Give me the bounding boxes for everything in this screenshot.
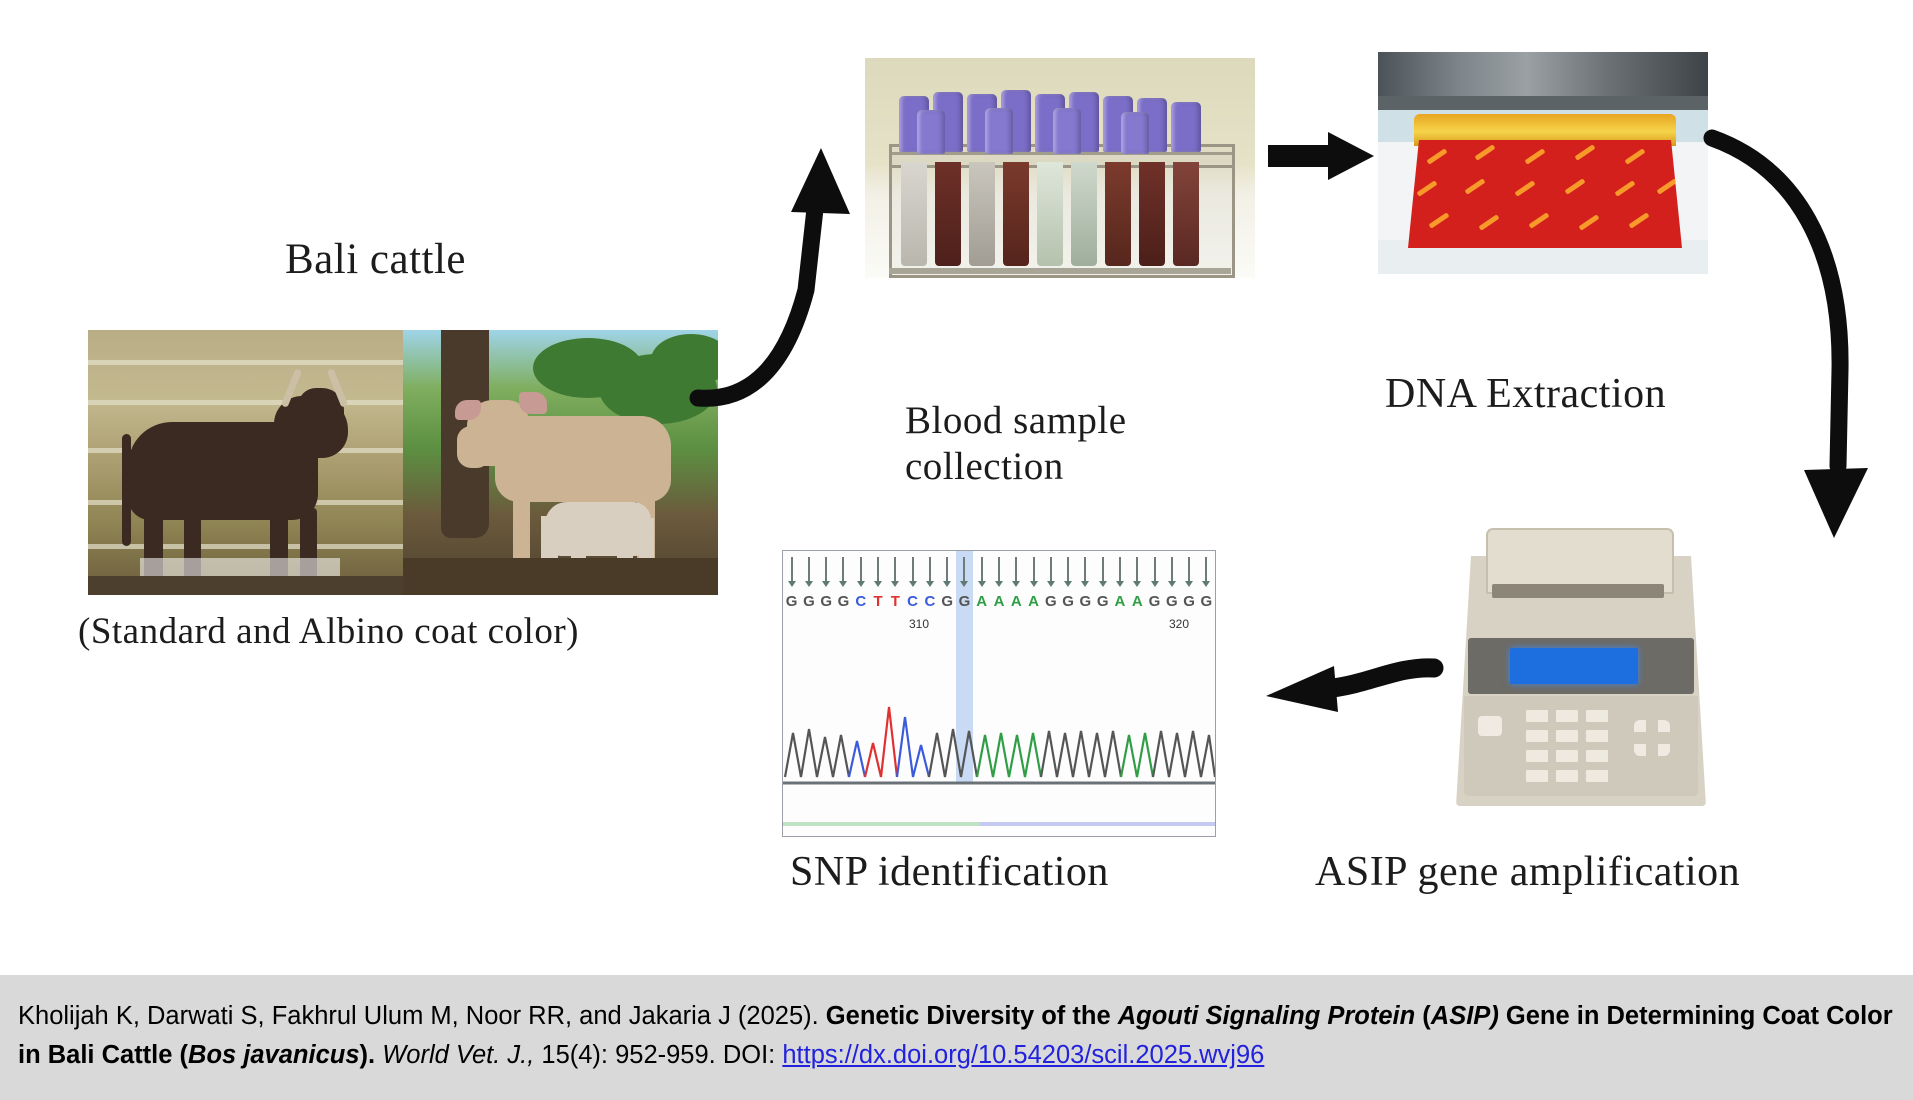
- base-tick-arrowhead: [1133, 581, 1141, 587]
- keypad-button[interactable]: [1586, 750, 1608, 762]
- base-tick-arrowhead: [960, 581, 968, 587]
- base-tick-arrowhead: [1185, 581, 1193, 587]
- base-tick-arrowhead: [1064, 581, 1072, 587]
- base-call-a: A: [1008, 593, 1024, 610]
- caption-title-italic2: ASIP): [1431, 1002, 1499, 1030]
- base-call-g: G: [801, 593, 817, 610]
- base-tick-arrowhead: [891, 581, 899, 587]
- base-call-g: G: [939, 593, 955, 610]
- base-tick-arrowhead: [839, 581, 847, 587]
- dna-kit-box: [1408, 140, 1682, 248]
- caption-journal: World Vet. J.,: [382, 1041, 534, 1069]
- base-tick: [825, 557, 827, 583]
- base-tick-arrowhead: [874, 581, 882, 587]
- keypad-button[interactable]: [1586, 770, 1608, 782]
- pcr-thermocycler-photo: [1448, 520, 1716, 820]
- citation-caption: Kholijah K, Darwati S, Fakhrul Ulum M, N…: [0, 975, 1913, 1100]
- base-tick-arrowhead: [1099, 581, 1107, 587]
- keypad-button[interactable]: [1556, 710, 1578, 722]
- base-tick: [963, 557, 965, 583]
- base-tick: [1171, 557, 1173, 583]
- base-call-t: T: [887, 593, 903, 610]
- base-call-a: A: [974, 593, 990, 610]
- dna-extraction-label: DNA Extraction: [1385, 370, 1666, 420]
- arrow-dna-to-pcr: [1700, 130, 1900, 550]
- base-tick-arrowhead: [788, 581, 796, 587]
- standard-coat-cattle-image: [88, 330, 403, 595]
- asip-gene-amplification-label: ASIP gene amplification: [1315, 848, 1740, 898]
- base-tick: [808, 557, 810, 583]
- base-tick-arrowhead: [1116, 581, 1124, 587]
- base-call-g: G: [1043, 593, 1059, 610]
- base-tick: [1205, 557, 1207, 583]
- base-tick: [860, 557, 862, 583]
- base-tick: [1050, 557, 1052, 583]
- base-call-c: C: [853, 593, 869, 610]
- base-call-g: G: [1164, 593, 1180, 610]
- keypad-button[interactable]: [1556, 730, 1578, 742]
- blood-sample-collection-label: Blood sample collection: [905, 398, 1127, 490]
- sanger-chromatogram-photo: GGGGCTTCCGGAAAAGGGGAAGGGG 310 320: [782, 550, 1216, 837]
- base-tick: [998, 557, 1000, 583]
- base-tick: [1102, 557, 1104, 583]
- base-tick: [894, 557, 896, 583]
- caption-paren-open: (: [1422, 1002, 1431, 1030]
- base-tick-arrowhead: [943, 581, 951, 587]
- arrow-cattle-to-blood: [690, 140, 920, 410]
- base-tick-arrowhead: [995, 581, 1003, 587]
- base-tick-arrowhead: [822, 581, 830, 587]
- keypad-button[interactable]: [1586, 730, 1608, 742]
- base-tick: [1154, 557, 1156, 583]
- baseline-blue-segment: [980, 822, 1215, 826]
- base-call-g: G: [1147, 593, 1163, 610]
- coat-color-note: (Standard and Albino coat color): [78, 610, 579, 654]
- base-call-g: G: [1181, 593, 1197, 610]
- keypad-button[interactable]: [1586, 710, 1608, 722]
- baseline-green-segment: [783, 822, 980, 826]
- base-tick: [981, 557, 983, 583]
- thermocycler-power-button[interactable]: [1478, 716, 1502, 736]
- base-tick: [1084, 557, 1086, 583]
- base-tick-arrowhead: [978, 581, 986, 587]
- caption-volume-pages: 15(4): 952-959.: [534, 1041, 723, 1069]
- base-tick-arrowhead: [857, 581, 865, 587]
- blood-tube-rack-photo: [865, 58, 1255, 278]
- keypad-button[interactable]: [1526, 730, 1548, 742]
- snp-identification-label: SNP identification: [790, 848, 1109, 898]
- position-label-310: 310: [909, 617, 929, 631]
- base-call-g: G: [818, 593, 834, 610]
- base-call-g: G: [1060, 593, 1076, 610]
- base-tick-arrowhead: [805, 581, 813, 587]
- base-call-c: C: [905, 593, 921, 610]
- base-tick-arrowhead: [1030, 581, 1038, 587]
- doi-link[interactable]: https://dx.doi.org/10.54203/scil.2025.wv…: [782, 1041, 1264, 1069]
- base-tick: [1033, 557, 1035, 583]
- caption-title-italic3: Bos javanicus: [188, 1041, 360, 1069]
- chromatogram-trace: [783, 637, 1215, 787]
- keypad-button[interactable]: [1526, 750, 1548, 762]
- base-tick-arrowhead: [1168, 581, 1176, 587]
- caption-doi-label: DOI:: [723, 1041, 783, 1069]
- base-call-a: A: [991, 593, 1007, 610]
- base-call-c: C: [922, 593, 938, 610]
- keypad-button[interactable]: [1526, 770, 1548, 782]
- bali-cattle-photo: [88, 330, 718, 595]
- base-tick: [842, 557, 844, 583]
- base-call-t: T: [870, 593, 886, 610]
- base-call-g: G: [1077, 593, 1093, 610]
- caption-title-part1: Genetic Diversity of the: [826, 1002, 1118, 1030]
- arrow-pcr-to-snp: [1248, 650, 1438, 720]
- base-call-g: G: [784, 593, 800, 610]
- base-tick-arrowhead: [1047, 581, 1055, 587]
- base-tick-arrowhead: [1012, 581, 1020, 587]
- chromatogram-inner: GGGGCTTCCGGAAAAGGGGAAGGGG 310 320: [783, 551, 1215, 836]
- base-call-g: G: [835, 593, 851, 610]
- caption-title-italic1: Agouti Signaling Protein: [1118, 1002, 1423, 1030]
- base-tick-arrowhead: [909, 581, 917, 587]
- base-tick-arrowhead: [1151, 581, 1159, 587]
- base-tick: [946, 557, 948, 583]
- base-tick: [929, 557, 931, 583]
- base-tick: [1067, 557, 1069, 583]
- base-tick: [1119, 557, 1121, 583]
- base-tick: [877, 557, 879, 583]
- base-tick-arrowhead: [1202, 581, 1210, 587]
- caption-title-part3: ).: [360, 1041, 383, 1069]
- keypad-button[interactable]: [1556, 750, 1578, 762]
- base-call-g: G: [1095, 593, 1111, 610]
- base-tick: [912, 557, 914, 583]
- base-tick: [791, 557, 793, 583]
- base-call-a: A: [1129, 593, 1145, 610]
- caption-authors: Kholijah K, Darwati S, Fakhrul Ulum M, N…: [18, 1002, 826, 1030]
- base-call-a: A: [1026, 593, 1042, 610]
- albino-coat-cattle-image: [403, 330, 718, 595]
- position-label-320: 320: [1169, 617, 1189, 631]
- base-tick-arrowhead: [1081, 581, 1089, 587]
- thermocycler-lcd-screen: [1510, 648, 1638, 684]
- base-tick-arrowhead: [926, 581, 934, 587]
- dna-extraction-kit-photo: [1378, 52, 1708, 274]
- base-call-g: G: [956, 593, 972, 610]
- base-call-g: G: [1198, 593, 1214, 610]
- arrow-blood-to-dna: [1268, 128, 1380, 184]
- base-tick: [1188, 557, 1190, 583]
- keypad-button[interactable]: [1556, 770, 1578, 782]
- base-call-a: A: [1112, 593, 1128, 610]
- base-tick: [1136, 557, 1138, 583]
- graphical-abstract-figure: Bali cattle: [0, 0, 1913, 975]
- bali-cattle-title: Bali cattle: [285, 235, 466, 286]
- base-tick: [1015, 557, 1017, 583]
- keypad-button[interactable]: [1526, 710, 1548, 722]
